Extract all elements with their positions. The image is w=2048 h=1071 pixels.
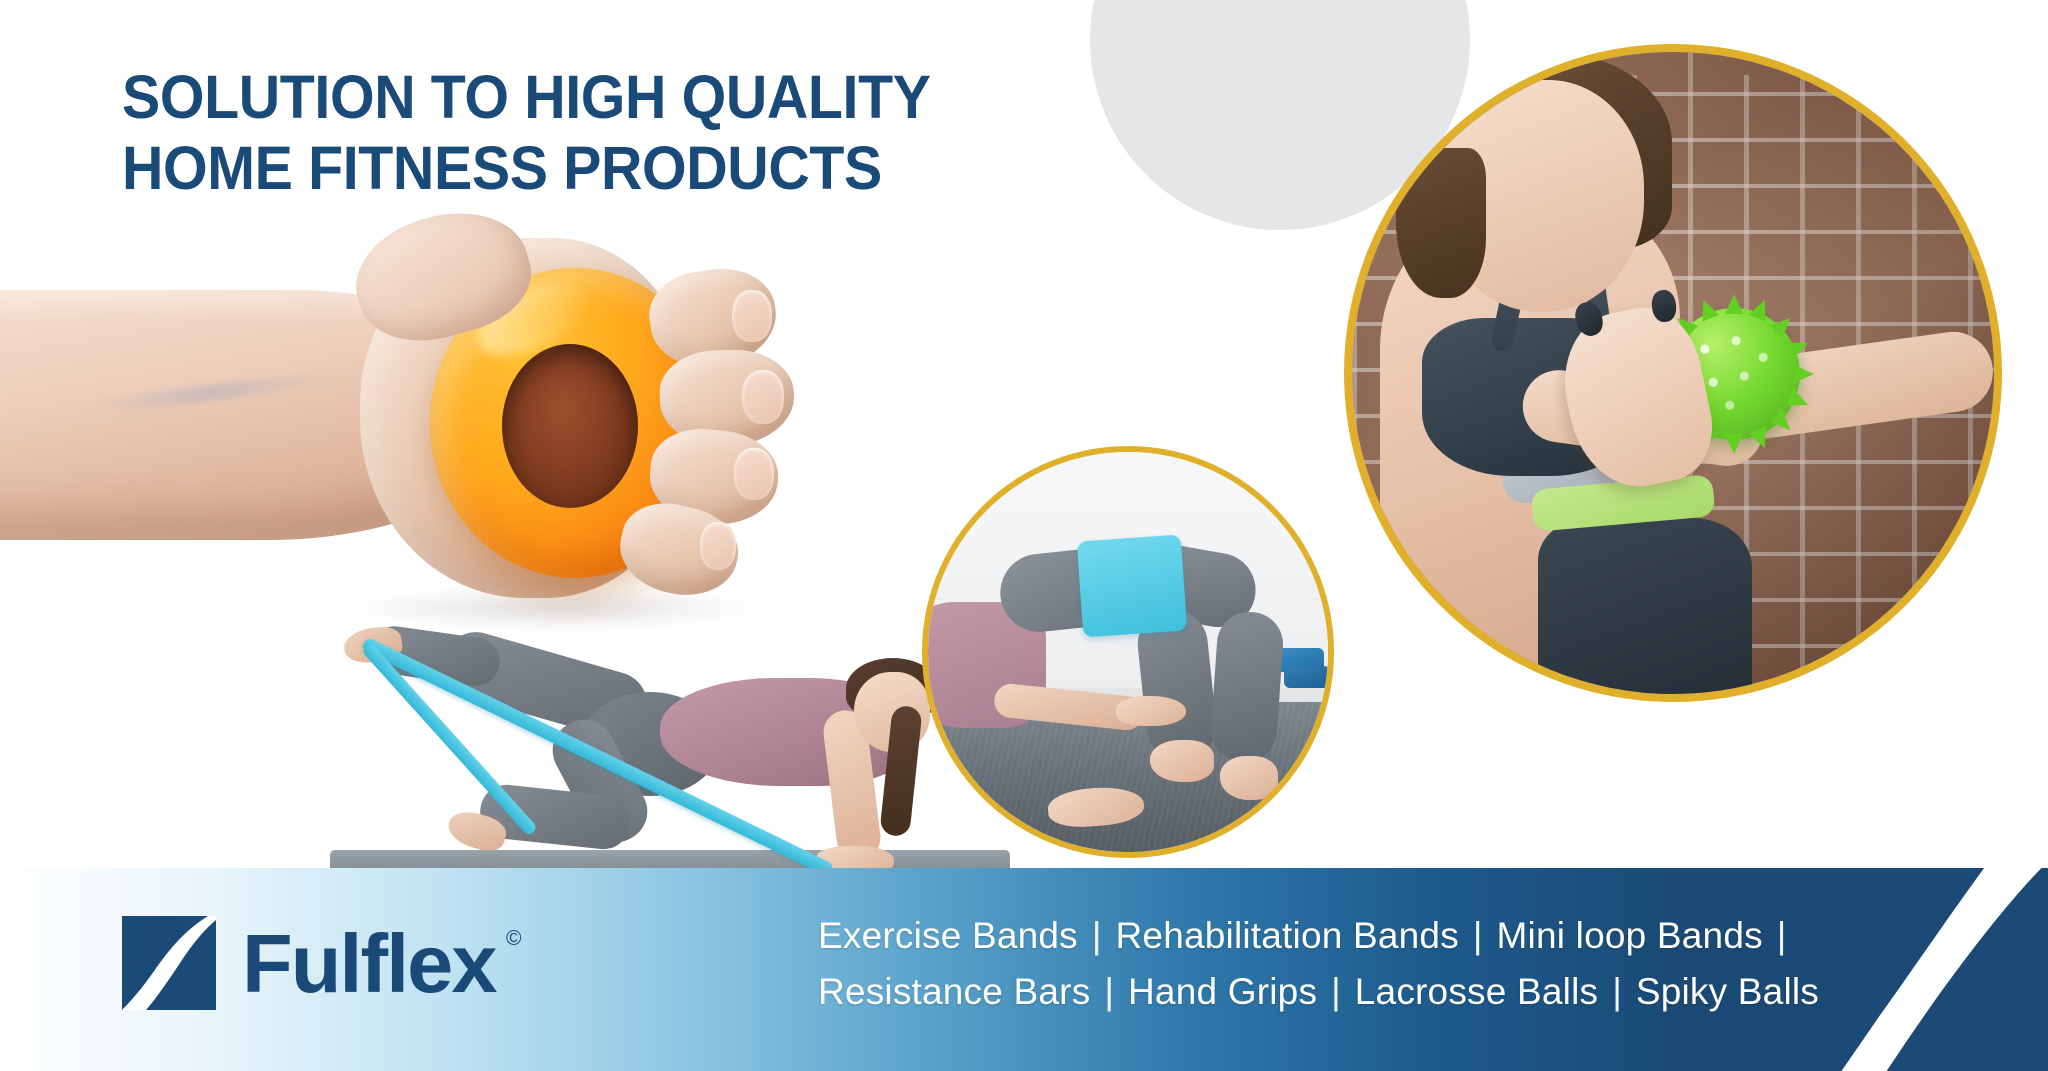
nav-separator: | [1078,915,1116,957]
foot [1220,756,1278,800]
spiky-ball-photo [1352,52,1994,694]
swoosh-decoration [1818,868,2048,1071]
nav-item-resistance-bars[interactable]: Resistance Bars [818,971,1090,1013]
fingernail [734,448,774,500]
nav-item-lacrosse-balls[interactable]: Lacrosse Balls [1355,971,1598,1013]
product-nav-row-1: Exercise Bands | Rehabilitation Bands | … [818,908,1819,964]
fingernail [742,370,784,424]
nav-item-hand-grips[interactable]: Hand Grips [1128,971,1317,1013]
hand-grip-photo [0,230,890,700]
brand-logo[interactable]: Fulflex © [122,916,495,1010]
page-title: SOLUTION TO HIGH QUALITY HOME FITNESS PR… [122,62,1122,205]
shin [1209,610,1285,764]
nav-item-spiky-balls[interactable]: Spiky Balls [1636,971,1819,1013]
nav-separator: | [1317,971,1355,1013]
hand [1116,696,1186,726]
headline-line-2: HOME FITNESS PRODUCTS [122,133,1062,204]
spike [1725,434,1743,454]
cyan-mini-loop-band [1077,534,1187,637]
nav-item-exercise-bands[interactable]: Exercise Bands [818,915,1078,957]
nav-separator: | [1090,971,1128,1013]
leggings [1538,518,1752,694]
blue-dumbbell [1284,666,1328,688]
logo-wordmark: Fulflex © [242,922,495,1005]
logo-name: Fulflex [242,917,495,1010]
footer-bar: Fulflex © Exercise Bands | Rehabilitatio… [0,868,2048,1071]
headline-line-1: SOLUTION TO HIGH QUALITY [122,62,1062,133]
copyright-icon: © [506,928,521,949]
nav-item-mini-loop-bands[interactable]: Mini loop Bands [1497,915,1763,957]
product-nav: Exercise Bands | Rehabilitation Bands | … [818,908,1819,1020]
fingernail [700,522,736,570]
mini-loop-photo [928,452,1328,852]
hair-side [1396,148,1486,298]
foot [1150,740,1214,782]
nav-separator-trailing: | [1763,915,1801,957]
product-nav-row-2: Resistance Bars | Hand Grips | Lacrosse … [818,964,1819,1020]
fulflex-mark-icon [122,916,216,1010]
nav-separator: | [1459,915,1497,957]
spike [1794,365,1814,383]
spike [1725,294,1743,314]
fingernail [732,290,772,342]
nav-separator: | [1598,971,1636,1013]
nav-item-rehabilitation-bands[interactable]: Rehabilitation Bands [1116,915,1459,957]
fitness-marketing-banner: SOLUTION TO HIGH QUALITY HOME FITNESS PR… [0,0,2048,1071]
